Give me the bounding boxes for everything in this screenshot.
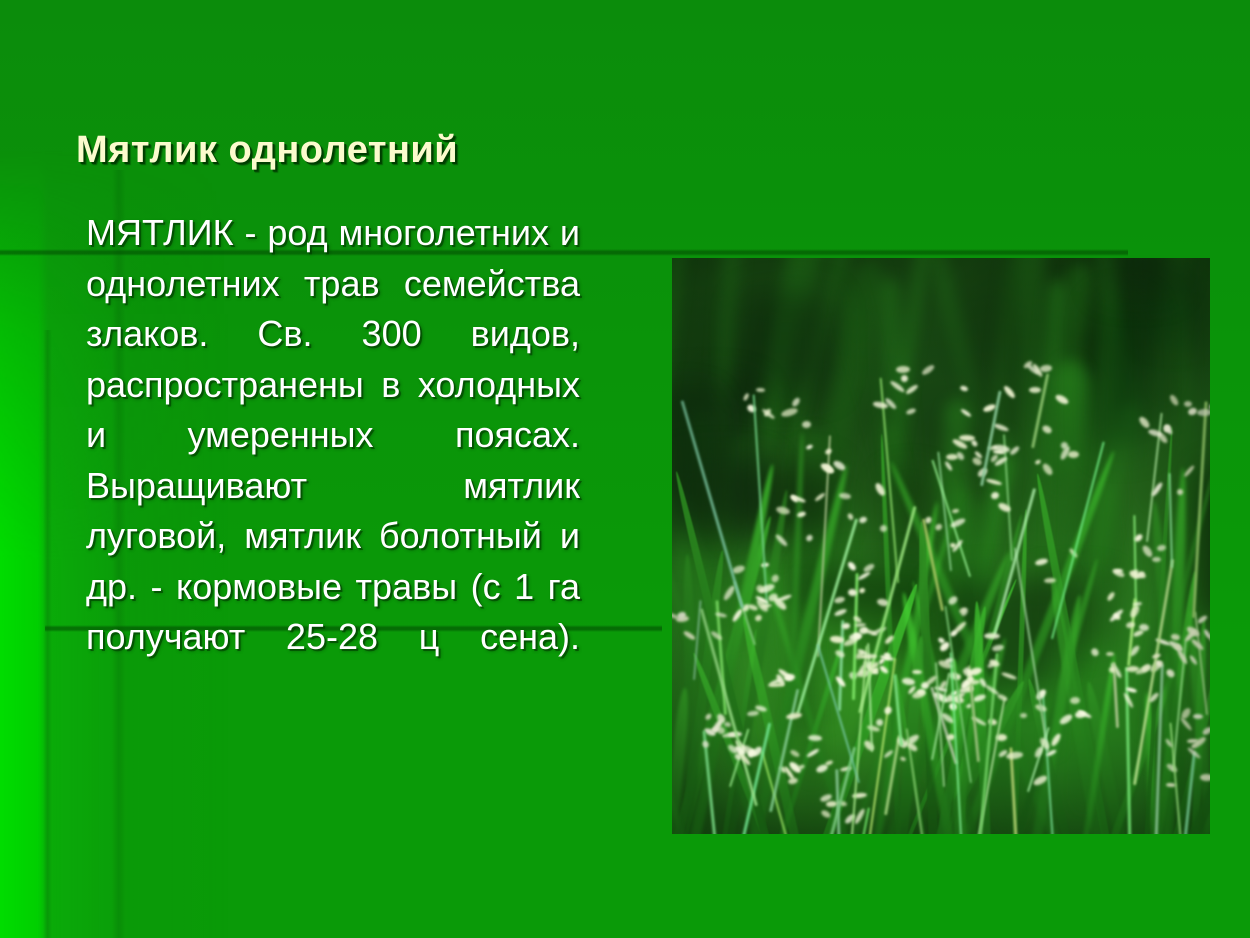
grass-seed-head (1029, 387, 1041, 393)
slide-title: Мятлик однолетний (76, 129, 458, 172)
grass-seed-head (984, 632, 1000, 638)
grass-seed-head (802, 420, 811, 427)
presentation-slide: Мятлик однолетний МЯТЛИК - род многолетн… (0, 0, 1250, 938)
grass-photo (672, 258, 1210, 834)
background-band-edge-outer (43, 330, 52, 938)
grass-seed-head (756, 388, 765, 392)
grass-seed-head (1068, 451, 1079, 458)
grass-seed-head (826, 800, 837, 806)
slide-body-text: МЯТЛИК - род многолетних и однолетних тр… (86, 208, 580, 713)
grass-seed-head (946, 454, 958, 461)
grass-seed-head (848, 588, 857, 596)
photo-shadow-pocket (1102, 258, 1174, 294)
grass-seed-head (1197, 409, 1210, 417)
photo-shadow-pocket (1098, 300, 1146, 451)
grass-seed-head (1193, 714, 1203, 719)
photo-shadow-pocket (743, 294, 833, 392)
grass-seed-head (1020, 712, 1027, 717)
